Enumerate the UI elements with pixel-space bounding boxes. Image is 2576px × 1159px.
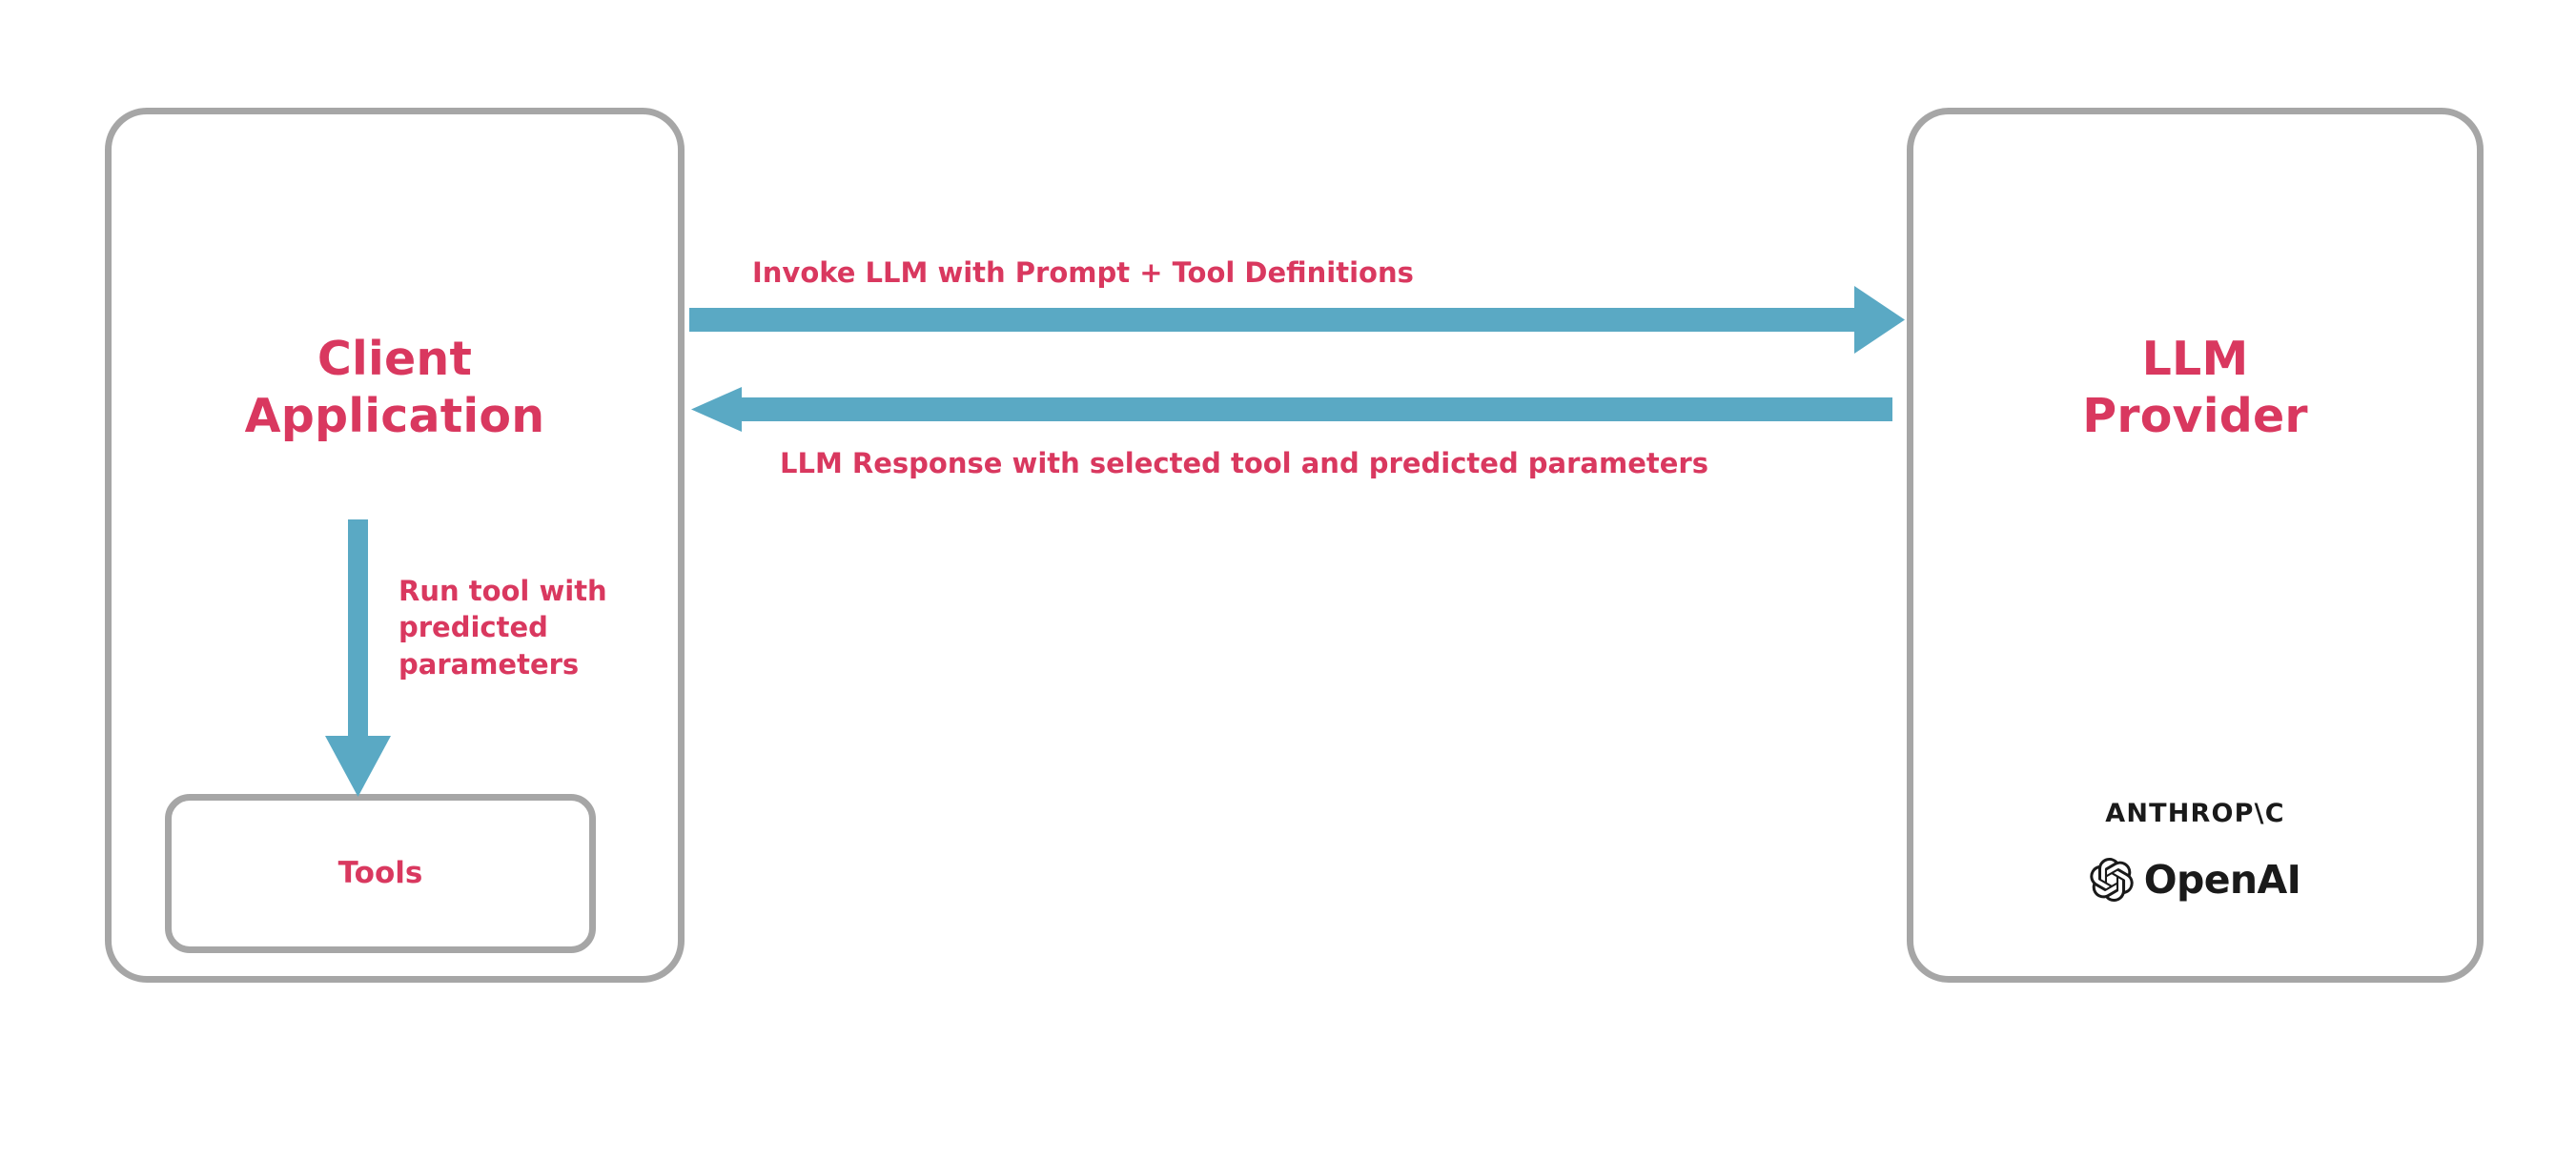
invoke-arrow-label: Invoke LLM with Prompt + Tool Definition… xyxy=(752,254,1414,291)
openai-knot-icon xyxy=(2090,858,2134,902)
llm-provider-panel xyxy=(1907,108,2484,983)
tools-label: Tools xyxy=(165,856,596,890)
openai-wordmark: OpenAI xyxy=(2144,861,2301,900)
invoke-arrow xyxy=(689,286,1905,354)
response-arrow-label: LLM Response with selected tool and pred… xyxy=(780,445,1708,481)
run-tool-arrow-label: Run tool with predicted parameters xyxy=(399,573,656,682)
openai-logo: OpenAI xyxy=(1907,858,2484,902)
response-arrow xyxy=(691,387,1892,432)
llm-provider-title: LLM Provider xyxy=(1907,331,2484,445)
anthropic-logo: ANTHROP\C xyxy=(1907,799,2484,828)
diagram-canvas: Client Application Tools LLM Provider In… xyxy=(0,0,2576,1159)
client-application-title: Client Application xyxy=(105,331,685,445)
